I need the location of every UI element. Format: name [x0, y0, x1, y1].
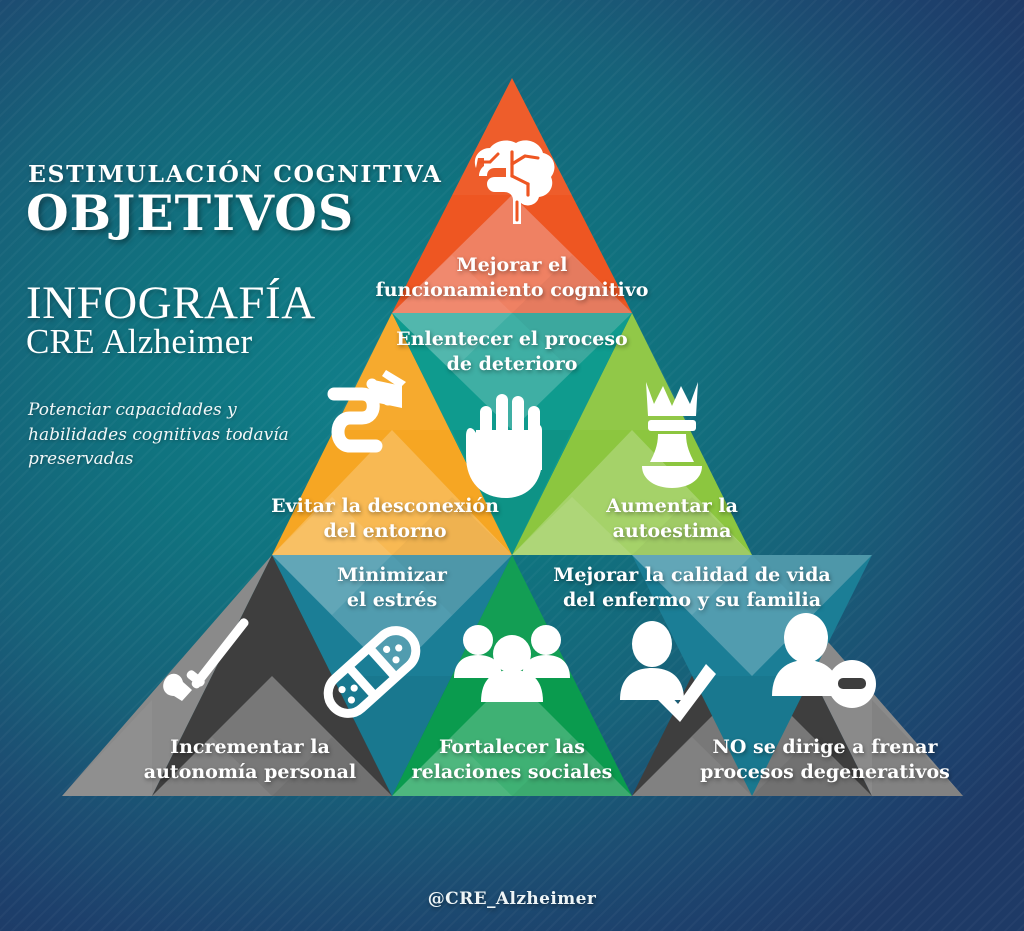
social-handle: @CRE_Alzheimer [0, 889, 1024, 909]
pyramid-diagram [0, 0, 1024, 931]
infographic-canvas: ESTIMULACIÓN COGNITIVA OBJETIVOS INFOGRA… [0, 0, 1024, 931]
